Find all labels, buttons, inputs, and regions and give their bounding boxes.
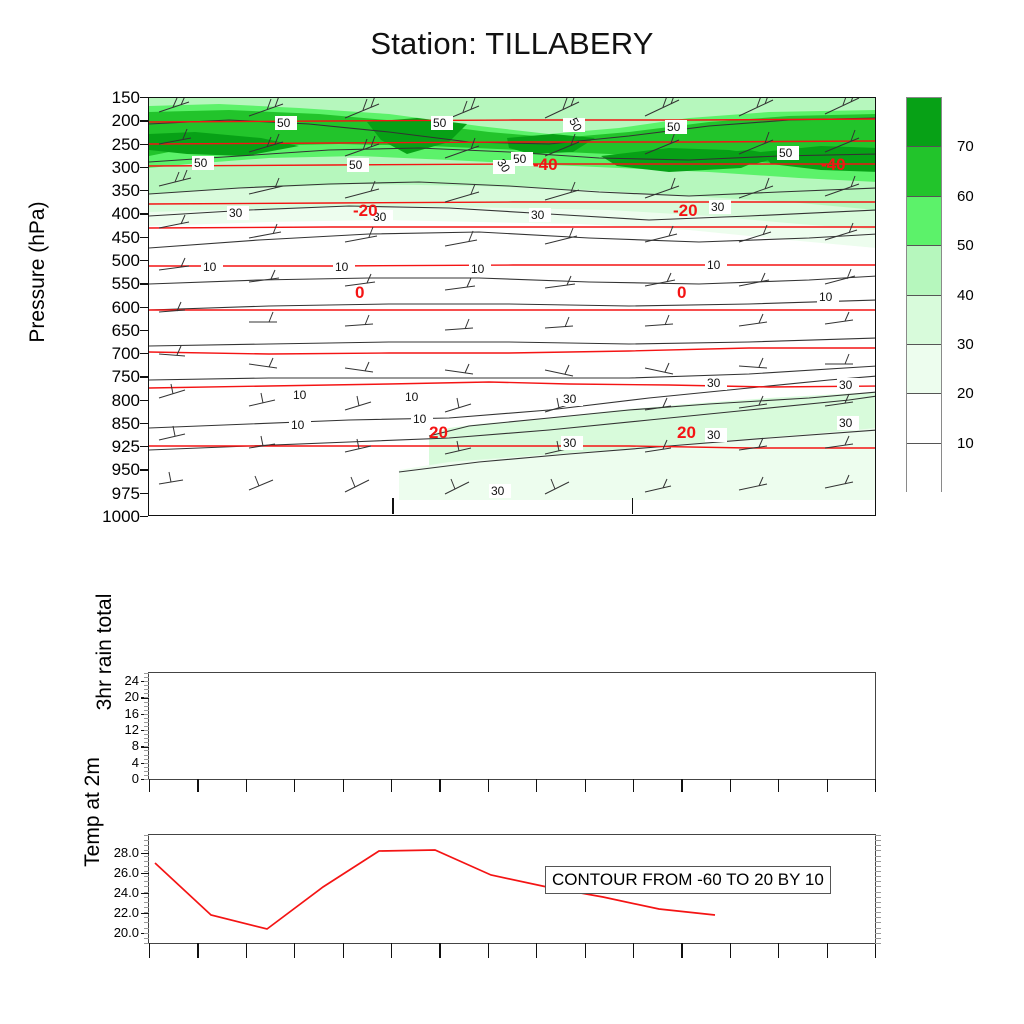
rain-minor-tick bbox=[144, 746, 149, 747]
isotach-label: 30 bbox=[839, 416, 853, 430]
temp-minor-tick bbox=[144, 845, 149, 846]
pressure-tick-label: 500 bbox=[80, 252, 140, 269]
rain-xtick bbox=[681, 779, 682, 792]
pressure-tick-label: 700 bbox=[80, 345, 140, 362]
temp-minor-tick-right bbox=[875, 866, 881, 867]
colorbar-segment bbox=[907, 444, 941, 493]
isotach-label: 50 bbox=[194, 156, 208, 170]
isotach-label: 30 bbox=[491, 484, 505, 498]
isotach-label: 10 bbox=[819, 290, 833, 304]
rain-xtick bbox=[585, 779, 586, 792]
temp-minor-tick-right bbox=[875, 917, 881, 918]
rain-minor-tick bbox=[144, 677, 149, 678]
colorbar-segment bbox=[907, 296, 941, 345]
colorbar-segment bbox=[907, 197, 941, 246]
temp-minor-tick bbox=[144, 850, 149, 851]
isotach-label: 30 bbox=[229, 206, 243, 220]
rain-minor-tick bbox=[144, 730, 149, 731]
pressure-tick-label: 750 bbox=[80, 368, 140, 385]
colorbar-segment bbox=[907, 394, 941, 443]
temp-xtick bbox=[149, 943, 150, 958]
temp-minor-tick bbox=[144, 886, 149, 887]
isotach-label: 10 bbox=[335, 260, 349, 274]
colorbar-segment bbox=[907, 246, 941, 295]
temp-contour-label: -40 bbox=[533, 155, 558, 174]
cross-section-xtick bbox=[392, 498, 394, 514]
temp-contour-label: -40 bbox=[821, 155, 846, 174]
rain-minor-tick bbox=[144, 697, 149, 698]
colorbar-label: 60 bbox=[957, 189, 974, 204]
rain-minor-tick bbox=[144, 706, 149, 707]
pressure-tick-label: 400 bbox=[80, 205, 140, 222]
isotach-label: 50 bbox=[433, 116, 447, 130]
rain-tick-label: 24 bbox=[99, 674, 139, 687]
isotach-label: 50 bbox=[779, 146, 793, 160]
pressure-tick-label: 550 bbox=[80, 275, 140, 292]
pressure-tick-mark bbox=[140, 190, 148, 191]
rain-minor-tick bbox=[144, 681, 149, 682]
isotach-label: 10 bbox=[405, 390, 419, 404]
rain-xtick bbox=[149, 779, 150, 792]
isotach-label: 10 bbox=[291, 418, 305, 432]
pressure-tick-mark bbox=[140, 97, 148, 98]
rain-minor-tick bbox=[144, 722, 149, 723]
temp-xtick bbox=[197, 943, 198, 958]
colorbar-segment bbox=[907, 147, 941, 196]
pressure-tick-mark bbox=[140, 237, 148, 238]
colorbar-label: 70 bbox=[957, 139, 974, 154]
temp-xtick bbox=[681, 943, 682, 958]
temp-tick-label: 28.0 bbox=[91, 846, 139, 859]
isotach-label: 10 bbox=[203, 260, 217, 274]
temp-minor-tick-right bbox=[875, 902, 881, 903]
rain-plot: 04812162024 bbox=[148, 672, 876, 780]
temp-xtick bbox=[536, 943, 537, 958]
isotach-label: 30 bbox=[563, 436, 577, 450]
rain-xtick bbox=[730, 779, 731, 792]
temp-tick-mark bbox=[141, 893, 149, 894]
pressure-tick-mark bbox=[140, 423, 148, 424]
pressure-tick-mark bbox=[140, 260, 148, 261]
pressure-axis-ticks: 1502002503003504004505005506006507007508… bbox=[78, 97, 140, 516]
pressure-tick-label: 975 bbox=[80, 485, 140, 502]
temp-minor-tick-right bbox=[875, 912, 881, 913]
temp-minor-tick bbox=[144, 928, 149, 929]
isotach-label: 30 bbox=[711, 200, 725, 214]
temp-minor-tick bbox=[144, 892, 149, 893]
rain-minor-tick bbox=[144, 718, 149, 719]
rain-xtick bbox=[633, 779, 634, 792]
colorbar-label: 10 bbox=[957, 436, 974, 451]
isotach-label: 30 bbox=[563, 392, 577, 406]
temp-minor-tick bbox=[144, 876, 149, 877]
pressure-tick-mark bbox=[140, 400, 148, 401]
temp-minor-tick-right bbox=[875, 928, 881, 929]
pressure-tick-mark bbox=[140, 213, 148, 214]
rain-xtick bbox=[246, 779, 247, 792]
temp-minor-tick bbox=[144, 861, 149, 862]
temp-minor-tick bbox=[144, 938, 149, 939]
rain-xtick bbox=[827, 779, 828, 792]
temp-minor-tick-right bbox=[875, 886, 881, 887]
rain-minor-tick bbox=[144, 673, 149, 674]
temp-minor-tick-right bbox=[875, 861, 881, 862]
isotach-label: 10 bbox=[293, 388, 307, 402]
temp-contour-label: 0 bbox=[355, 283, 364, 302]
rain-minor-tick bbox=[144, 750, 149, 751]
rain-minor-tick bbox=[144, 759, 149, 760]
rain-tick-label: 0 bbox=[99, 772, 139, 785]
pressure-tick-label: 925 bbox=[80, 438, 140, 455]
temp-minor-tick bbox=[144, 840, 149, 841]
temp-minor-tick-right bbox=[875, 835, 881, 836]
temp-xtick bbox=[730, 943, 731, 958]
rain-tick-label: 8 bbox=[99, 739, 139, 752]
rain-minor-tick bbox=[144, 689, 149, 690]
isotach-label: 10 bbox=[707, 258, 721, 272]
rain-xtick bbox=[294, 779, 295, 792]
rain-tick-label: 16 bbox=[99, 707, 139, 720]
temp-minor-tick bbox=[144, 922, 149, 923]
temp-xtick bbox=[633, 943, 634, 958]
rain-minor-tick bbox=[144, 726, 149, 727]
pressure-tick-mark bbox=[140, 446, 148, 447]
isotach-label: 50 bbox=[667, 120, 681, 134]
pressure-tick-label: 1000 bbox=[80, 508, 140, 525]
temp-minor-tick-right bbox=[875, 897, 881, 898]
temp-minor-tick-right bbox=[875, 933, 881, 934]
isotach-label: 30 bbox=[707, 376, 721, 390]
rain-minor-tick bbox=[144, 767, 149, 768]
rain-minor-tick bbox=[144, 702, 149, 703]
rain-minor-tick bbox=[144, 775, 149, 776]
pressure-tick-label: 800 bbox=[80, 392, 140, 409]
temp-contour-label: -20 bbox=[353, 201, 378, 220]
temp-xtick bbox=[439, 943, 440, 958]
temp-minor-tick-right bbox=[875, 840, 881, 841]
temp-tick-label: 20.0 bbox=[91, 926, 139, 939]
page-title: Station: TILLABERY bbox=[0, 26, 1024, 62]
isotach-label: 30 bbox=[707, 428, 721, 442]
rain-minor-tick bbox=[144, 710, 149, 711]
cross-section-xtick bbox=[632, 498, 634, 514]
pressure-tick-label: 350 bbox=[80, 182, 140, 199]
rain-xtick bbox=[875, 779, 876, 792]
pressure-tick-mark bbox=[140, 376, 148, 377]
rain-xtick bbox=[197, 779, 198, 792]
pressure-axis-label: Pressure (hPa) bbox=[26, 142, 50, 402]
pressure-tick-label: 650 bbox=[80, 322, 140, 339]
rain-xtick bbox=[488, 779, 489, 792]
rain-minor-tick bbox=[144, 755, 149, 756]
pressure-tick-mark bbox=[140, 144, 148, 145]
temp-minor-tick bbox=[144, 866, 149, 867]
colorbar-label: 20 bbox=[957, 386, 974, 401]
colorbar-label: 40 bbox=[957, 288, 974, 303]
rain-tick-label: 12 bbox=[99, 723, 139, 736]
temp-minor-tick bbox=[144, 912, 149, 913]
colorbar-label: 50 bbox=[957, 238, 974, 253]
pressure-tick-label: 250 bbox=[80, 136, 140, 153]
temp-minor-tick bbox=[144, 902, 149, 903]
temp-minor-tick-right bbox=[875, 871, 881, 872]
temp-minor-tick bbox=[144, 943, 149, 944]
temp-minor-tick-right bbox=[875, 881, 881, 882]
rain-xtick bbox=[778, 779, 779, 792]
temp-minor-tick-right bbox=[875, 856, 881, 857]
temp-xtick bbox=[343, 943, 344, 958]
rain-minor-tick bbox=[144, 685, 149, 686]
cross-section-plot: 50 50 50 50 50 50 50 50 30 30 30 30 30 1… bbox=[148, 97, 876, 516]
temp-xtick bbox=[875, 943, 876, 958]
pressure-tick-mark bbox=[140, 330, 148, 331]
temp-tick-label: 22.0 bbox=[91, 906, 139, 919]
temp-minor-tick-right bbox=[875, 943, 881, 944]
temp-minor-tick-right bbox=[875, 922, 881, 923]
temp-xtick bbox=[246, 943, 247, 958]
pressure-tick-mark bbox=[140, 493, 148, 494]
rain-minor-tick bbox=[144, 742, 149, 743]
temp-minor-tick bbox=[144, 897, 149, 898]
temp-xtick bbox=[391, 943, 392, 958]
pressure-tick-mark bbox=[140, 307, 148, 308]
temp-tick-mark bbox=[141, 913, 149, 914]
pressure-tick-mark bbox=[140, 516, 148, 517]
pressure-tick-label: 950 bbox=[80, 461, 140, 478]
pressure-tick-label: 850 bbox=[80, 415, 140, 432]
temp-minor-tick-right bbox=[875, 938, 881, 939]
temp-minor-tick bbox=[144, 917, 149, 918]
temp-minor-tick bbox=[144, 881, 149, 882]
rain-minor-tick bbox=[144, 771, 149, 772]
rain-xtick bbox=[391, 779, 392, 792]
rain-xtick bbox=[536, 779, 537, 792]
cross-section-svg: 50 50 50 50 50 50 50 50 30 30 30 30 30 1… bbox=[149, 98, 876, 516]
temp-minor-tick bbox=[144, 907, 149, 908]
rain-minor-tick bbox=[144, 693, 149, 694]
temp-axis-label: Temp at 2m bbox=[81, 687, 105, 937]
temp-contour-label: 20 bbox=[677, 423, 696, 442]
rain-minor-tick bbox=[144, 738, 149, 739]
pressure-tick-label: 150 bbox=[80, 89, 140, 106]
rain-tick-label: 20 bbox=[99, 690, 139, 703]
pressure-tick-label: 300 bbox=[80, 159, 140, 176]
rain-tick-label: 4 bbox=[99, 756, 139, 769]
pressure-tick-label: 450 bbox=[80, 229, 140, 246]
rain-minor-tick bbox=[144, 734, 149, 735]
temp-xtick bbox=[827, 943, 828, 958]
contour-annotation: CONTOUR FROM -60 TO 20 BY 10 bbox=[545, 866, 831, 894]
temp-xtick bbox=[778, 943, 779, 958]
temp-minor-tick-right bbox=[875, 845, 881, 846]
temp-tick-mark bbox=[141, 873, 149, 874]
temp-tick-label: 24.0 bbox=[91, 886, 139, 899]
pressure-tick-mark bbox=[140, 469, 148, 470]
isotach-label: 50 bbox=[349, 158, 363, 172]
isotach-label: 50 bbox=[277, 116, 291, 130]
rain-minor-tick bbox=[144, 779, 149, 780]
temp-minor-tick-right bbox=[875, 892, 881, 893]
temp-minor-tick-right bbox=[875, 850, 881, 851]
temp-xtick bbox=[294, 943, 295, 958]
pressure-tick-label: 200 bbox=[80, 112, 140, 129]
temp-tick-label: 26.0 bbox=[91, 866, 139, 879]
pressure-tick-mark bbox=[140, 120, 148, 121]
isotach-label: 30 bbox=[531, 208, 545, 222]
rain-minor-tick bbox=[144, 763, 149, 764]
temp-minor-tick bbox=[144, 856, 149, 857]
rain-xtick bbox=[343, 779, 344, 792]
rain-minor-tick bbox=[144, 714, 149, 715]
colorbar: 70605040302010 bbox=[906, 97, 942, 492]
pressure-tick-mark bbox=[140, 353, 148, 354]
temp-xtick bbox=[488, 943, 489, 958]
rain-xtick bbox=[439, 779, 440, 792]
temp-minor-tick-right bbox=[875, 876, 881, 877]
temp-minor-tick bbox=[144, 871, 149, 872]
isotach-label: 10 bbox=[413, 412, 427, 426]
colorbar-segment bbox=[907, 98, 941, 147]
isotach-label: 30 bbox=[839, 378, 853, 392]
temp-contour-label: 20 bbox=[429, 423, 448, 442]
pressure-tick-label: 600 bbox=[80, 299, 140, 316]
temp-minor-tick-right bbox=[875, 907, 881, 908]
temp-minor-tick bbox=[144, 933, 149, 934]
pressure-tick-mark bbox=[140, 283, 148, 284]
temp-contour-label: -20 bbox=[673, 201, 698, 220]
isotach-label: 50 bbox=[513, 152, 527, 166]
temp-minor-tick bbox=[144, 835, 149, 836]
temp-xtick bbox=[585, 943, 586, 958]
isotach-label: 10 bbox=[471, 262, 485, 276]
temp-tick-mark bbox=[141, 853, 149, 854]
pressure-tick-mark bbox=[140, 167, 148, 168]
colorbar-segment bbox=[907, 345, 941, 394]
temp-contour-label: 0 bbox=[677, 283, 686, 302]
colorbar-label: 30 bbox=[957, 337, 974, 352]
